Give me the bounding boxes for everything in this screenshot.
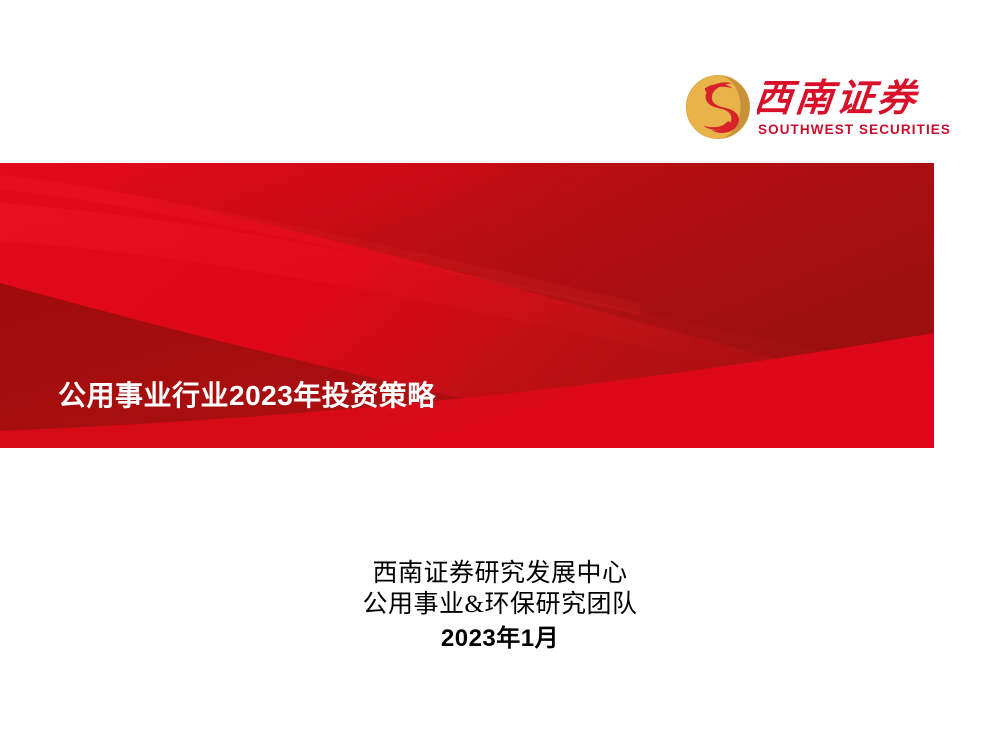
brand-english-name: SOUTHWEST SECURITIES [758,122,950,138]
banner-subtitle: 公用事业行业2023年投资策略 [58,374,436,414]
footer-line-date: 2023年1月 [0,622,1000,656]
southwest-securities-swirl-logo-icon [685,74,751,140]
brand-chinese-name-icon: 西南证券 [757,72,949,122]
footer-line-institute: 西南证券研究发展中心 [0,558,1000,589]
title-banner: 公用事业行业2023年投资策略 觅火追光，静待破晓 [0,163,934,448]
brand-logo: 西南证券 SOUTHWEST SECURITIES [685,72,950,150]
footer-credits: 西南证券研究发展中心 公用事业&环保研究团队 2023年1月 [0,558,1000,656]
presentation-slide: 西南证券 SOUTHWEST SECURITIES [0,0,1000,750]
svg-text:西南证券: 西南证券 [757,78,921,120]
brand-logo-text: 西南证券 SOUTHWEST SECURITIES [757,72,949,146]
footer-line-team: 公用事业&环保研究团队 [0,589,1000,620]
